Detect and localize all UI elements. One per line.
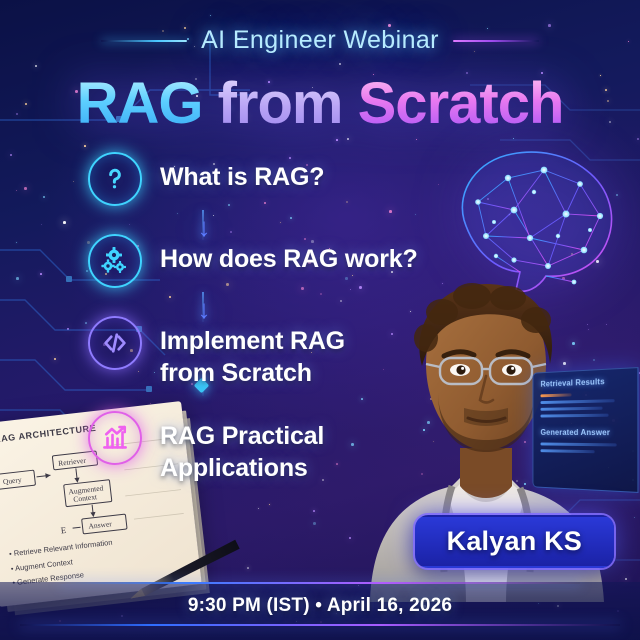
star-dot xyxy=(349,537,351,539)
question-mark-icon xyxy=(88,152,142,206)
star-dot xyxy=(313,510,315,512)
kicker-rule-right xyxy=(453,40,539,42)
agenda-item-implement-rag[interactable]: Implement RAG from Scratch xyxy=(88,316,418,389)
star-dot xyxy=(313,522,316,525)
star-dot xyxy=(24,187,27,190)
star-dot xyxy=(84,145,86,147)
star-dot xyxy=(16,242,17,243)
star-dot xyxy=(73,181,74,182)
star-dot xyxy=(63,221,66,224)
agenda-item-label: Implement RAG from Scratch xyxy=(160,316,345,389)
title-word-from: from xyxy=(218,71,343,136)
kicker-text: AI Engineer Webinar xyxy=(201,26,439,55)
agenda-list: What is RAG? ↓ xyxy=(88,152,418,484)
retrieval-results-panel: Retrieval Results Generated Answer xyxy=(533,367,639,493)
star-dot xyxy=(258,508,259,509)
panel-heading-generated: Generated Answer xyxy=(533,421,637,440)
flow-node-context: Context xyxy=(73,492,99,504)
star-dot xyxy=(16,277,19,280)
speaker-name-badge[interactable]: Kalyan KS xyxy=(415,515,614,568)
star-dot xyxy=(85,322,87,324)
star-dot xyxy=(16,190,17,191)
panel-bar xyxy=(540,443,616,447)
agenda-item-label: What is RAG? xyxy=(160,152,324,193)
panel-heading-retrieval: Retrieval Results xyxy=(533,368,637,391)
star-dot xyxy=(347,138,349,140)
bar-chart-icon xyxy=(88,411,142,465)
star-dot xyxy=(210,15,211,16)
star-dot xyxy=(247,567,249,569)
agenda-item-rag-practical-applications[interactable]: RAG Practical Applications xyxy=(88,411,418,484)
code-brackets-icon xyxy=(88,316,142,370)
gears-icon xyxy=(88,234,142,288)
title-word-scratch: Scratch xyxy=(358,71,564,136)
title-word-rag: RAG xyxy=(77,71,203,136)
star-dot xyxy=(40,273,42,275)
footer-details: 9:30 PM (IST) • April 16, 2026 xyxy=(0,595,640,617)
agenda-item-what-is-rag[interactable]: What is RAG? xyxy=(88,152,418,206)
page-title: RAG from Scratch xyxy=(0,70,640,137)
star-dot xyxy=(35,65,37,67)
star-dot xyxy=(54,358,56,360)
kicker-row: AI Engineer Webinar xyxy=(0,26,640,55)
star-dot xyxy=(339,63,341,65)
flow-node-retriever: Retriever xyxy=(58,456,87,468)
agenda-item-label: How does RAG work? xyxy=(160,234,418,275)
webinar-poster: AI Engineer Webinar RAG from Scratch xyxy=(0,0,640,640)
star-dot xyxy=(10,154,12,156)
kicker-rule-left xyxy=(101,40,187,42)
footer-bar: 9:30 PM (IST) • April 16, 2026 xyxy=(0,582,640,640)
panel-bar xyxy=(540,399,614,404)
agenda-item-how-does-rag-work[interactable]: How does RAG work? xyxy=(88,234,418,288)
star-dot xyxy=(336,139,338,141)
star-dot xyxy=(43,196,45,198)
flow-node-answer: Answer xyxy=(88,519,113,531)
star-dot xyxy=(67,328,69,330)
star-dot xyxy=(416,139,417,140)
footer-rule-bottom xyxy=(20,624,620,626)
star-dot xyxy=(634,517,635,518)
panel-bar xyxy=(540,449,594,453)
agenda-item-label: RAG Practical Applications xyxy=(160,411,324,484)
star-dot xyxy=(41,224,42,225)
panel-bar xyxy=(540,414,608,418)
svg-text:E: E xyxy=(60,525,67,536)
panel-bar xyxy=(540,393,571,397)
star-dot xyxy=(625,578,627,580)
star-dot xyxy=(269,504,270,505)
flow-node-query: Query xyxy=(2,475,22,486)
panel-bar xyxy=(540,407,602,411)
star-dot xyxy=(637,138,639,140)
footer-rule-top xyxy=(60,582,580,584)
